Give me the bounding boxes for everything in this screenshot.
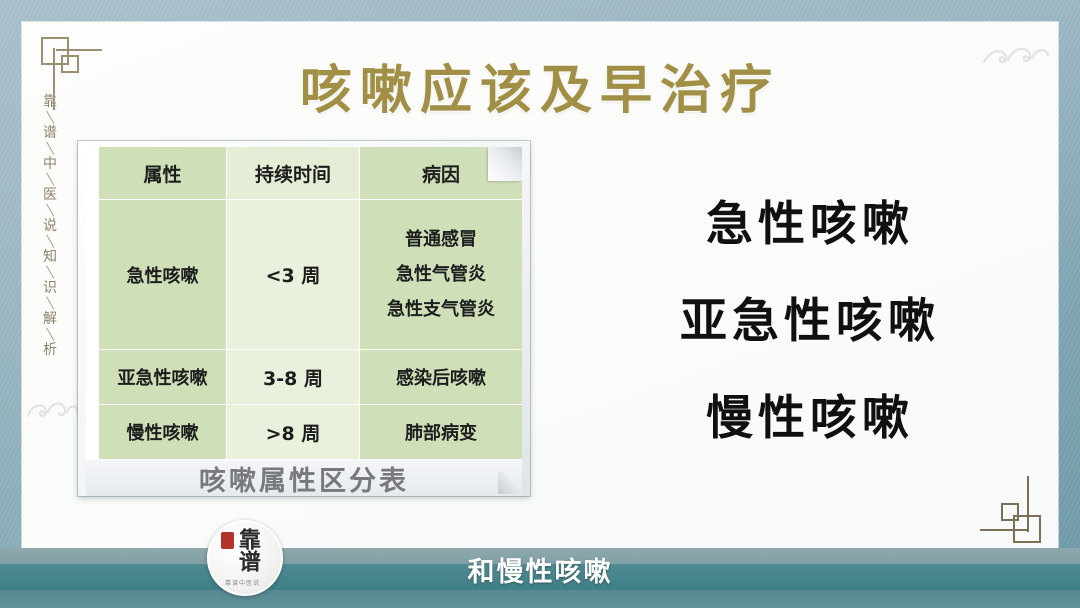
table-header-row: 属性 持续时间 病因 bbox=[99, 147, 522, 200]
page-curl-corner bbox=[488, 147, 522, 181]
table-row: 急性咳嗽 <3 周 普通感冒 急性气管炎 急性支气管炎 bbox=[99, 200, 522, 350]
brand-separator: ╲ bbox=[46, 298, 53, 309]
table-row: 亚急性咳嗽 3-8 周 感染后咳嗽 bbox=[99, 350, 522, 405]
cell-attribute: 亚急性咳嗽 bbox=[99, 350, 227, 405]
cell-causes: 普通感冒 急性气管炎 急性支气管炎 bbox=[360, 200, 523, 350]
logo-subtext: 靠谱中医说 bbox=[225, 578, 260, 587]
channel-logo: 靠谱 靠谱中医说 bbox=[207, 520, 283, 596]
cell-duration: <3 周 bbox=[227, 200, 360, 350]
table-card-inner: 属性 持续时间 病因 急性咳嗽 <3 周 普通感冒 急性气管炎 急性支气管炎 亚… bbox=[86, 147, 522, 460]
cell-attribute: 急性咳嗽 bbox=[99, 200, 227, 350]
highlight-lines: 急性咳嗽 亚急性咳嗽 慢性咳嗽 bbox=[600, 185, 1020, 476]
brand-separator: ╲ bbox=[46, 205, 53, 216]
brand-separator: ╲ bbox=[46, 267, 53, 278]
cell-duration: 3-8 周 bbox=[227, 350, 360, 405]
cell-attribute: 慢性咳嗽 bbox=[99, 405, 227, 460]
subtitle-text: 和慢性咳嗽 bbox=[468, 550, 613, 589]
brand-char: 中 bbox=[43, 157, 57, 171]
red-seal-icon bbox=[221, 532, 234, 549]
highlight-line-acute: 急性咳嗽 bbox=[600, 185, 1020, 254]
table-header-attribute: 属性 bbox=[99, 147, 227, 200]
table-row: 慢性咳嗽 >8 周 肺部病变 bbox=[99, 405, 522, 460]
vertical-brand-text: 靠 ╲ 谱 ╲ 中 ╲ 医 ╲ 说 ╲ 知 ╲ 识 ╲ 解 ╲ 析 bbox=[33, 95, 67, 357]
cell-duration: >8 周 bbox=[227, 405, 360, 460]
brand-separator: ╲ bbox=[46, 329, 53, 340]
brand-separator: ╲ bbox=[46, 236, 53, 247]
brand-separator: ╲ bbox=[46, 174, 53, 185]
cloud-ornament-bottom-left bbox=[24, 392, 80, 430]
brand-char: 谱 bbox=[43, 126, 57, 140]
highlight-line-chronic: 慢性咳嗽 bbox=[600, 379, 1020, 448]
brand-char: 知 bbox=[43, 250, 57, 264]
brand-char: 析 bbox=[43, 343, 57, 357]
cell-causes: 肺部病变 bbox=[360, 405, 523, 460]
brand-separator: ╲ bbox=[46, 143, 53, 154]
slide-root: 靠 ╲ 谱 ╲ 中 ╲ 医 ╲ 说 ╲ 知 ╲ 识 ╲ 解 ╲ 析 咳嗽应该及早… bbox=[0, 0, 1080, 608]
cause-item: 普通感冒 bbox=[360, 222, 522, 257]
table-header-duration: 持续时间 bbox=[227, 147, 360, 200]
cough-attribute-table: 属性 持续时间 病因 急性咳嗽 <3 周 普通感冒 急性气管炎 急性支气管炎 亚… bbox=[99, 147, 522, 460]
brand-char: 解 bbox=[43, 312, 57, 326]
highlight-line-subacute: 亚急性咳嗽 bbox=[600, 282, 1020, 351]
logo-mark: 靠谱 bbox=[237, 528, 258, 572]
page-title: 咳嗽应该及早治疗 bbox=[0, 48, 1080, 123]
subtitle-bar: 和慢性咳嗽 bbox=[0, 548, 1080, 590]
table-card: 属性 持续时间 病因 急性咳嗽 <3 周 普通感冒 急性气管炎 急性支气管炎 亚… bbox=[78, 141, 530, 496]
cell-causes: 感染后咳嗽 bbox=[360, 350, 523, 405]
cause-item: 急性支气管炎 bbox=[360, 292, 522, 327]
table-caption: 咳嗽属性区分表 bbox=[86, 460, 522, 496]
cause-item: 急性气管炎 bbox=[360, 257, 522, 292]
brand-char: 医 bbox=[43, 188, 57, 202]
brand-char: 识 bbox=[43, 281, 57, 295]
brand-char: 说 bbox=[43, 219, 57, 233]
